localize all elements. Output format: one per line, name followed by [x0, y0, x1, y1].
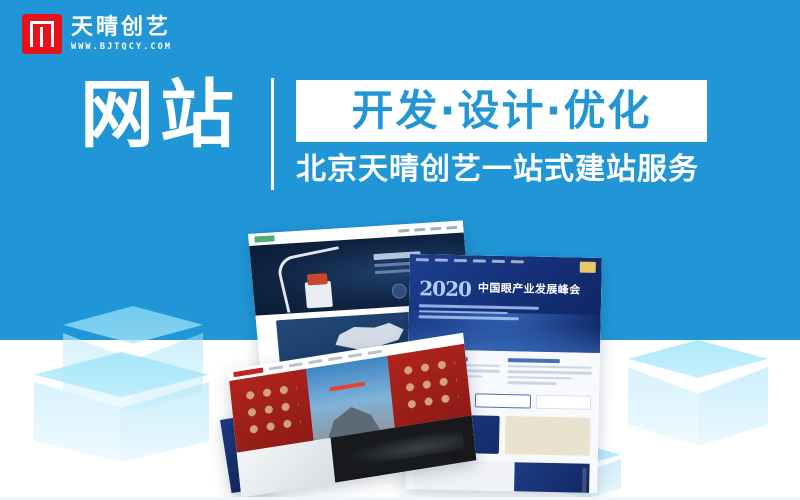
- cube-right: [628, 340, 768, 470]
- website-mockup-stack: 2020 中国眼产业发展峰会: [228, 222, 598, 494]
- headline-subtitle: 北京天晴创艺一站式建站服务: [296, 155, 699, 185]
- logo-text-block: 天晴创艺 WWW.BJTQCY.COM: [71, 16, 172, 52]
- tqcy-square-logo-icon: [22, 14, 62, 54]
- palace-door-panel-left: [229, 369, 314, 453]
- logo-website-url: WWW.BJTQCY.COM: [71, 42, 172, 52]
- headline-keyword: 网站: [80, 78, 240, 152]
- summit-title-row: 2020 中国眼产业发展峰会: [409, 264, 602, 304]
- palace-door-panel-right: [387, 344, 472, 428]
- promo-banner: 2020 中国眼产业发展峰会: [0, 0, 800, 500]
- summit-year: 2020: [419, 276, 471, 301]
- headline-divider: [271, 78, 274, 190]
- mockup-logo-icon: [254, 235, 275, 242]
- palace-gate-photo: [306, 356, 394, 441]
- summit-card-beige: [505, 416, 591, 456]
- headline-services-text: 开发·设计·优化: [352, 90, 652, 132]
- medical-device-icon: [305, 281, 333, 309]
- summit-title: 中国眼产业发展峰会: [478, 283, 581, 298]
- summit-footer-right: [514, 462, 590, 493]
- summit-subtitle-lines: [419, 304, 591, 321]
- site-logo[interactable]: 天晴创艺 WWW.BJTQCY.COM: [22, 14, 172, 54]
- cube-lower-left: [34, 352, 209, 480]
- headline-services-box: 开发·设计·优化: [296, 80, 707, 142]
- logo-company-name: 天晴创艺: [71, 16, 172, 39]
